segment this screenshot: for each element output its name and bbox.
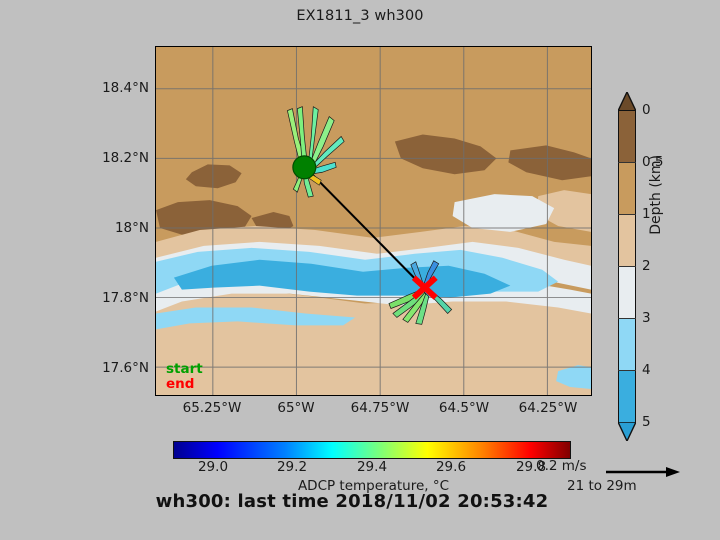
y-tick-4: 17.6°N <box>77 360 149 376</box>
bathymetry-contour-map <box>156 47 591 395</box>
y-tick-2: 18°N <box>77 220 149 236</box>
y-axis-ticks: 18.4°N 18.2°N 18°N 17.8°N 17.6°N <box>71 46 149 396</box>
depth-colorbar-over-cap <box>618 92 636 110</box>
y-tick-3: 17.8°N <box>77 290 149 306</box>
x-tick-3: 64.5°W <box>419 400 509 416</box>
legend-start-label: start <box>166 362 203 377</box>
depth-colorbar-axis-label: Depth (km) <box>648 155 664 235</box>
x-tick-4: 64.25°W <box>503 400 593 416</box>
temp-tick-1: 29.2 <box>252 459 332 475</box>
temp-tick-0: 29.0 <box>173 459 253 475</box>
depth-tick-6: 5 <box>642 414 651 430</box>
legend-end-label: end <box>166 377 203 392</box>
depth-colorbar[interactable]: 0 0.5 1 2 3 4 5 <box>615 92 641 440</box>
quiver-key-magnitude: 0.2 m/s <box>536 458 587 474</box>
temp-tick-3: 29.6 <box>411 459 491 475</box>
temperature-colorbar-ticks: 29.0 29.2 29.4 29.6 29.8 <box>173 459 571 479</box>
bottom-title: wh300: last time 2018/11/02 20:53:42 <box>0 491 712 512</box>
start-end-legend: start end <box>166 362 203 391</box>
depth-tick-4: 3 <box>642 310 651 326</box>
depth-colorbar-under-cap <box>618 422 636 440</box>
depth-tick-0: 0 <box>642 102 651 118</box>
y-tick-1: 18.2°N <box>77 150 149 166</box>
temperature-colorbar-body <box>173 441 571 459</box>
depth-seg-0.5-1 <box>619 163 635 215</box>
depth-seg-4-5 <box>619 371 635 423</box>
temperature-colorbar[interactable] <box>173 441 571 461</box>
depth-seg-2-3 <box>619 267 635 319</box>
temp-tick-2: 29.4 <box>332 459 412 475</box>
y-tick-0: 18.4°N <box>77 80 149 96</box>
x-tick-0: 65.25°W <box>167 400 257 416</box>
page-title: EX1811_3 wh300 <box>0 8 720 24</box>
map-axes[interactable]: start end <box>155 46 592 396</box>
x-tick-2: 64.75°W <box>335 400 425 416</box>
depth-seg-0-0.5 <box>619 111 635 163</box>
depth-seg-3-4 <box>619 319 635 371</box>
start-marker[interactable] <box>293 156 316 179</box>
depth-seg-1-2 <box>619 215 635 267</box>
x-axis-ticks: 65.25°W 65°W 64.75°W 64.5°W 64.25°W <box>155 400 592 424</box>
x-tick-1: 65°W <box>251 400 341 416</box>
depth-tick-5: 4 <box>642 362 651 378</box>
bottom-title-wrap: wh300: last time 2018/11/02 20:53:42 <box>0 491 720 512</box>
depth-tick-3: 2 <box>642 258 651 274</box>
quiver-key-arrow-icon <box>606 466 681 478</box>
